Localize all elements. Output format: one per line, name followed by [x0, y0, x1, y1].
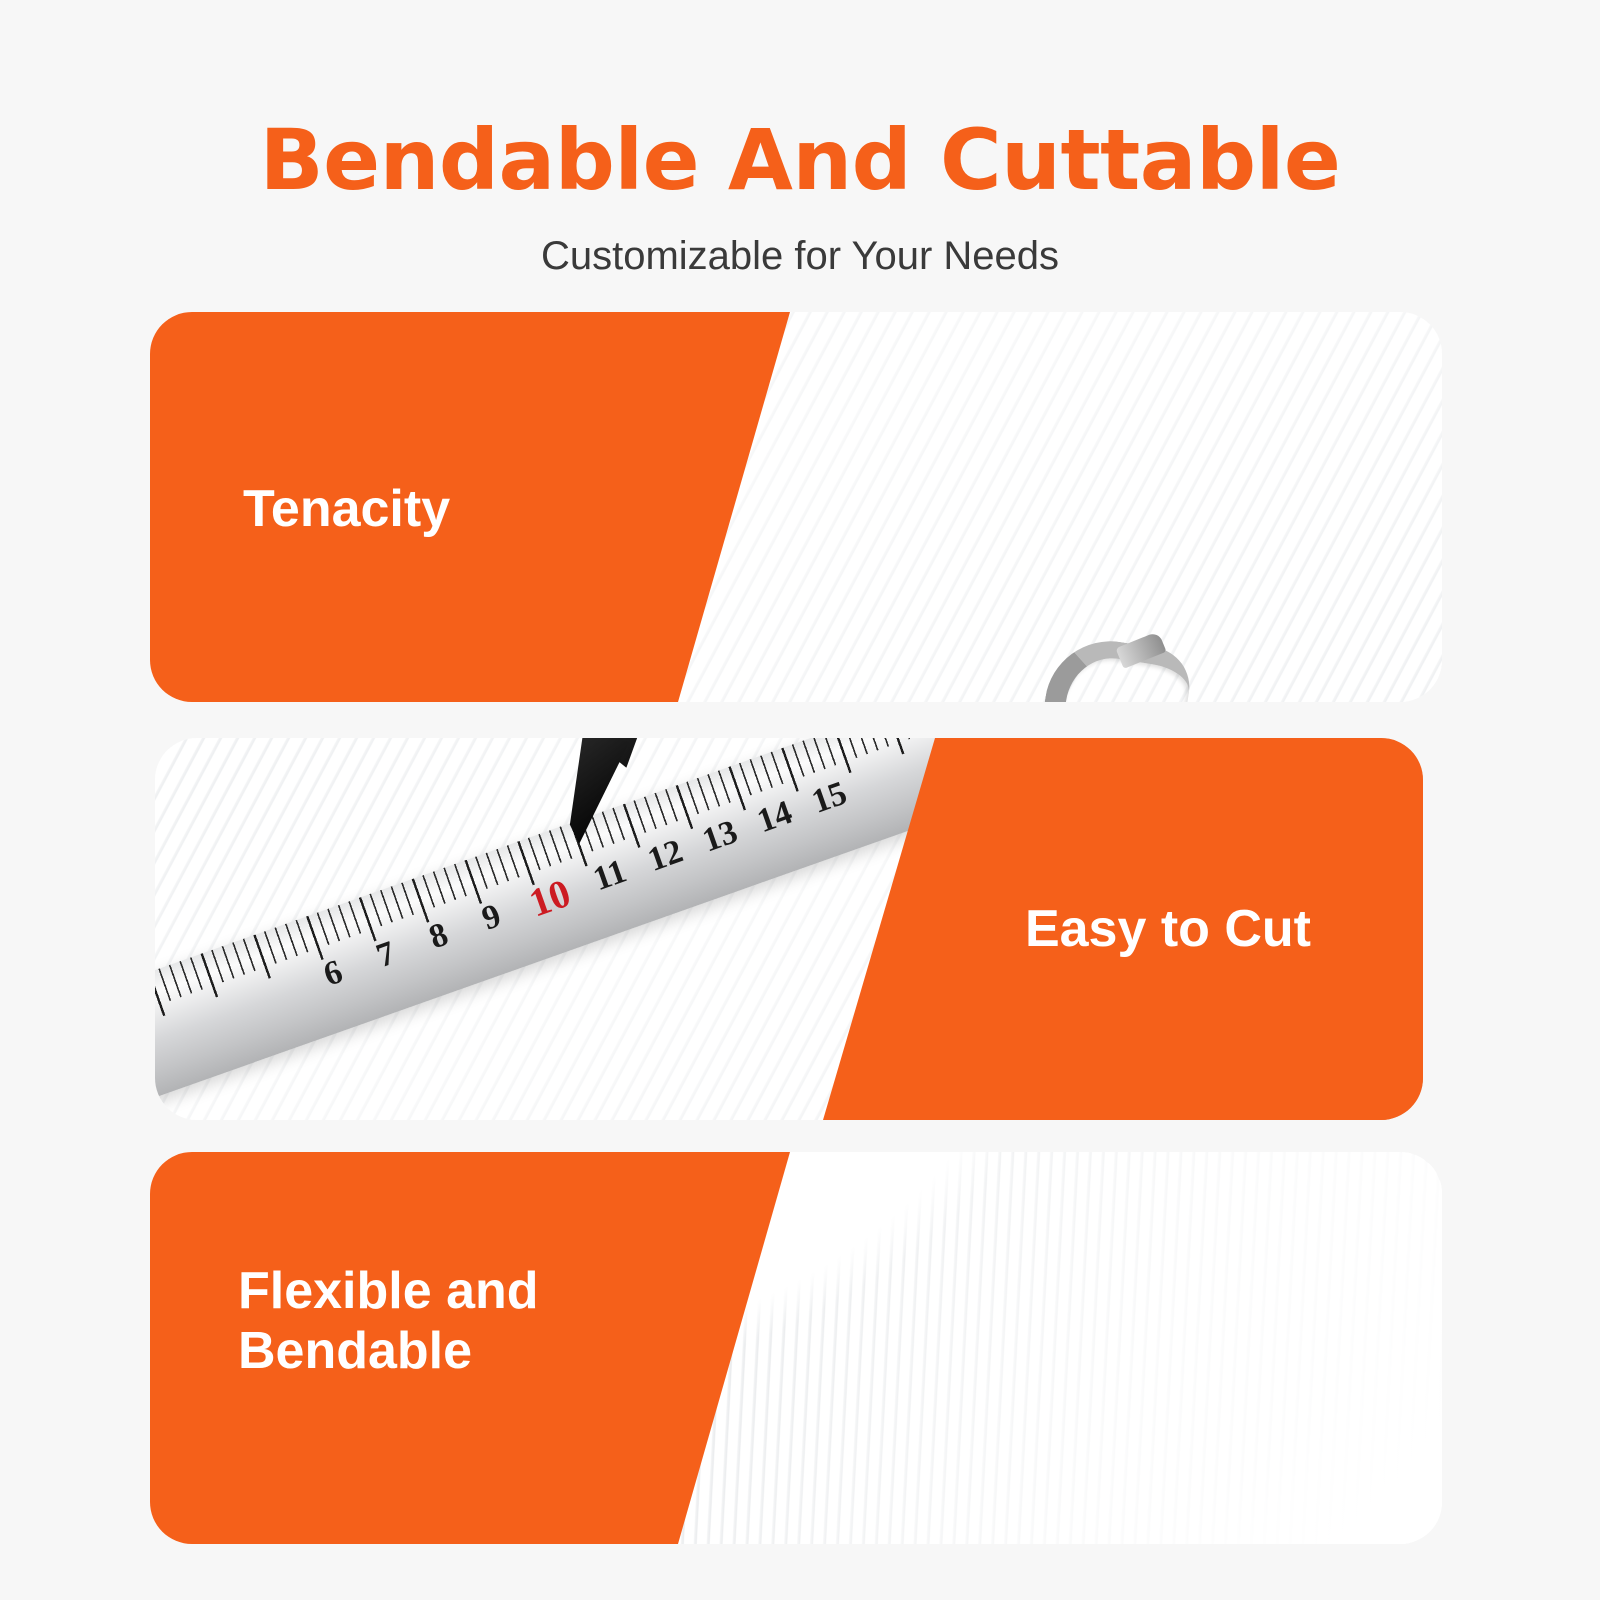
- ruler-number: 8: [425, 916, 454, 957]
- knife-blade: [558, 738, 632, 850]
- hammer-claw-icon: [1036, 632, 1195, 702]
- feature-card-tenacity[interactable]: Tenacity: [150, 312, 1442, 702]
- orange-label-panel: Tenacity: [150, 312, 790, 702]
- ruler-number: 6: [319, 953, 348, 994]
- card-label-easy-to-cut: Easy to Cut: [1025, 900, 1311, 960]
- ruler-number: 7: [372, 934, 401, 975]
- feature-card-easy-to-cut[interactable]: 6 7 8 9 10 11 12 13 14 15 25 26: [155, 738, 1423, 1120]
- ruler-number: 9: [477, 897, 506, 938]
- page-title: Bendable And Cuttable: [0, 118, 1600, 202]
- orange-label-panel: Flexible and Bendable: [150, 1152, 790, 1544]
- header: Bendable And Cuttable Customizable for Y…: [0, 0, 1600, 300]
- card-label-tenacity: Tenacity: [243, 480, 450, 540]
- feature-card-flexible-and-bendable[interactable]: Flexible and Bendable: [150, 1152, 1442, 1544]
- page-subtitle: Customizable for Your Needs: [0, 232, 1600, 280]
- card-label-flexible-and-bendable: Flexible and Bendable: [238, 1262, 539, 1382]
